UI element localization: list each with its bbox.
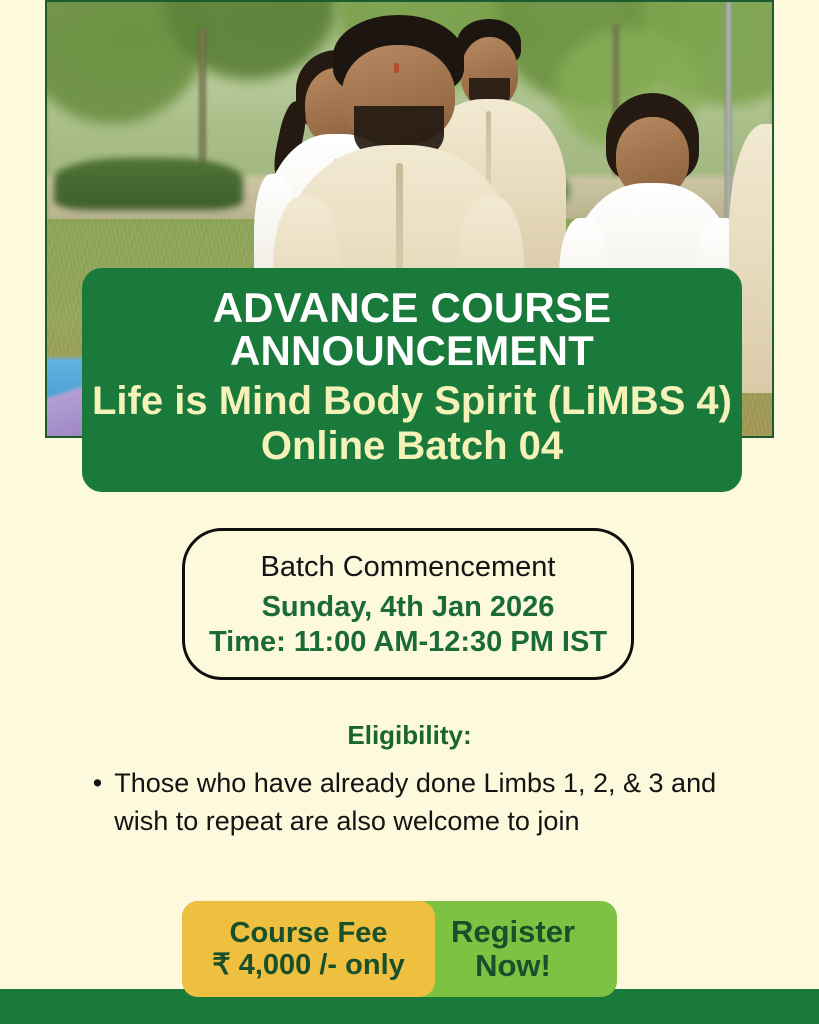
person-center-male-tilak [394,63,399,73]
eligibility-bullet-icon: • [93,764,102,802]
batch-commencement-box: Batch Commencement Sunday, 4th Jan 2026 … [182,528,634,680]
photo-background-hedge [54,158,243,210]
batch-commencement-date: Sunday, 4th Jan 2026 [262,590,555,624]
register-now-label-line-1: Register [429,915,597,949]
eligibility-list: • Those who have already done Limbs 1, 2… [86,764,746,841]
course-fee-badge[interactable]: Course Fee ₹ 4,000 /- only [182,901,435,997]
banner-batch-label: Online Batch 04 [261,424,563,469]
course-fee-label: Course Fee [230,917,388,949]
eligibility-item-text: Those who have already done Limbs 1, 2, … [114,764,739,841]
banner-course-title: Life is Mind Body Spirit (LiMBS 4) [92,379,732,424]
cta-group: Register Now! Course Fee ₹ 4,000 /- only [182,901,617,997]
banner-headline-line-1: ADVANCE COURSE [213,287,612,330]
announcement-banner: ADVANCE COURSE ANNOUNCEMENT Life is Mind… [82,268,742,492]
course-fee-amount: ₹ 4,000 /- only [212,949,405,981]
banner-headline-line-2: ANNOUNCEMENT [230,330,594,373]
eligibility-heading: Eligibility: [0,720,819,751]
register-now-label-line-2: Now! [429,949,597,983]
poster-root: ADVANCE COURSE ANNOUNCEMENT Life is Mind… [0,0,819,1024]
batch-commencement-title: Batch Commencement [261,549,556,585]
batch-commencement-time: Time: 11:00 AM-12:30 PM IST [209,625,607,659]
